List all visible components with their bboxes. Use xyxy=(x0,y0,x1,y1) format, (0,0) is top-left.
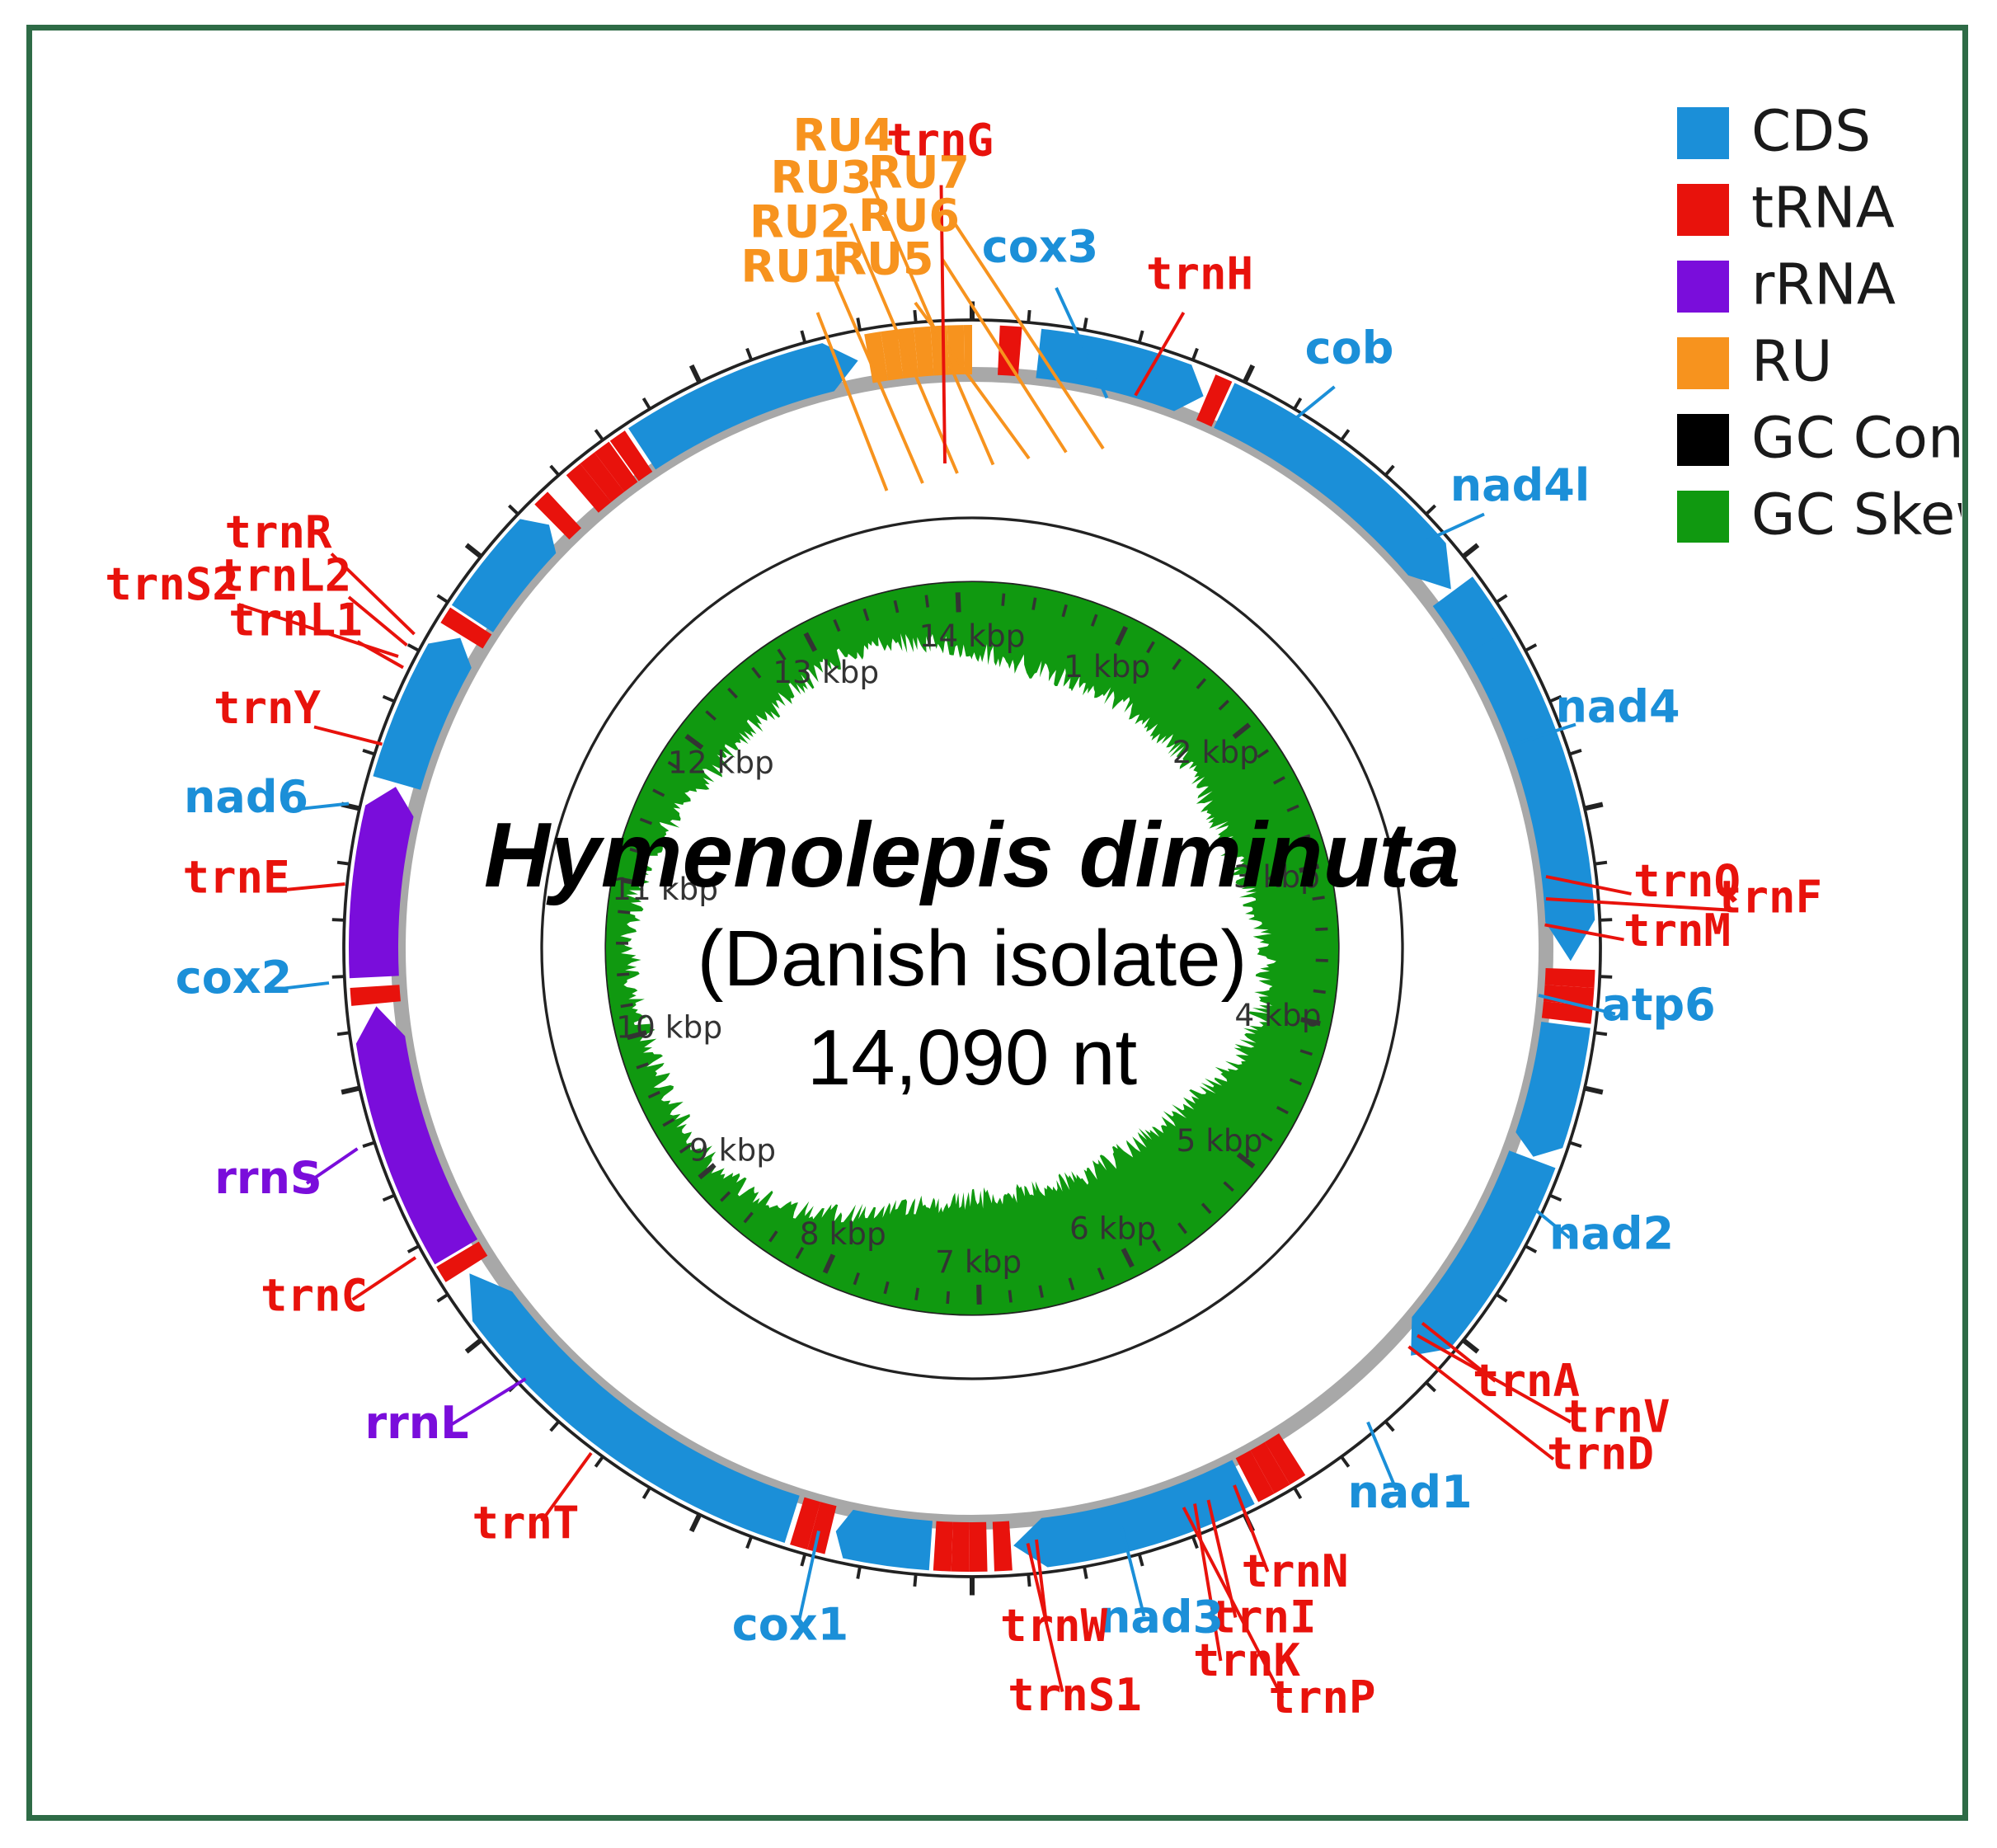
gene-feature-nad2[interactable] xyxy=(1411,1150,1555,1356)
axis-tick xyxy=(1585,804,1603,808)
gene-feature-trnQ[interactable] xyxy=(1545,968,1595,988)
figure-frame: 1 kbp2 kbp3 kbp4 kbp5 kbp6 kbp7 kbp8 kbp… xyxy=(26,25,1968,1821)
kbp-tick xyxy=(617,974,629,975)
feature-label-RU1[interactable]: RU1 xyxy=(740,241,842,293)
kbp-label: 7 kbp xyxy=(935,1244,1022,1280)
legend-swatch-gc-skew- xyxy=(1677,491,1729,543)
kbp-label: 1 kbp xyxy=(1064,648,1150,684)
feature-label-trnW[interactable]: trnW xyxy=(1000,1600,1108,1652)
feature-label-nad4[interactable]: nad4 xyxy=(1555,681,1680,733)
gene-feature-trnI[interactable] xyxy=(952,1522,970,1572)
center-genome-length: 14,090 nt xyxy=(807,1013,1137,1102)
feature-label-trnY[interactable]: trnY xyxy=(214,682,322,734)
leader-line-trnE xyxy=(281,884,345,891)
axis-tick xyxy=(467,1340,482,1352)
feature-label-nad6[interactable]: nad6 xyxy=(184,771,308,823)
feature-label-trnG[interactable]: trnG xyxy=(886,115,994,167)
axis-tick xyxy=(858,317,860,330)
axis-tick xyxy=(383,697,395,702)
axis-tick xyxy=(1426,505,1435,514)
gene-feature-trnC[interactable] xyxy=(350,985,401,1006)
legend: CDStRNArRNARUGC ContentGC Skew+ xyxy=(1677,99,1962,548)
feature-label-nad4l[interactable]: nad4l xyxy=(1450,459,1591,511)
axis-tick xyxy=(1585,1089,1603,1093)
feature-label-trnR[interactable]: trnR xyxy=(224,506,332,558)
axis-tick xyxy=(1595,863,1607,864)
axis-tick xyxy=(1084,1567,1087,1579)
axis-tick xyxy=(551,466,559,475)
axis-tick xyxy=(509,505,518,514)
gene-feature-nad4[interactable] xyxy=(1465,630,1595,962)
kbp-label: 2 kbp xyxy=(1172,734,1259,770)
gene-feature-RU7[interactable] xyxy=(964,325,972,374)
kbp-tick xyxy=(1313,990,1326,992)
axis-tick xyxy=(337,1032,350,1034)
feature-label-trnL1[interactable]: trnL1 xyxy=(228,595,363,647)
legend-label-gc-content: GC Content xyxy=(1751,406,1962,472)
center-isolate: (Danish isolate) xyxy=(698,915,1248,1003)
axis-tick xyxy=(747,1536,751,1548)
kbp-tick xyxy=(618,911,630,913)
kbp-tick xyxy=(621,1004,633,1006)
kbp-tick xyxy=(1009,1291,1011,1303)
feature-label-rrnL[interactable]: rrnL xyxy=(364,1397,468,1449)
kbp-tick xyxy=(947,1291,948,1304)
axis-tick xyxy=(332,919,345,920)
legend-label-trna: tRNA xyxy=(1751,176,1895,242)
legend-label-cds: CDS xyxy=(1751,99,1871,165)
axis-tick xyxy=(408,1246,419,1252)
axis-tick xyxy=(1600,976,1612,977)
kbp-label: 14 kbp xyxy=(919,618,1026,654)
axis-tick xyxy=(1570,750,1581,755)
gene-feature-cob[interactable] xyxy=(1214,383,1451,589)
feature-label-trnE[interactable]: trnE xyxy=(182,852,289,904)
gene-feature-rrnL[interactable] xyxy=(356,1006,477,1264)
feature-label-trnD[interactable]: trnD xyxy=(1547,1428,1654,1480)
axis-tick xyxy=(1570,1142,1581,1146)
axis-tick xyxy=(858,1567,860,1579)
feature-label-trnM[interactable]: trnM xyxy=(1623,905,1731,957)
gene-feature-trnK[interactable] xyxy=(933,1521,953,1572)
axis-tick xyxy=(1028,1574,1029,1587)
legend-label-gc-skew-: GC Skew+ xyxy=(1751,482,1962,548)
axis-tick xyxy=(1295,1488,1301,1498)
axis-tick xyxy=(1464,545,1478,557)
axis-tick xyxy=(1193,349,1197,360)
axis-tick xyxy=(801,331,805,342)
kbp-label: 6 kbp xyxy=(1069,1211,1156,1247)
kbp-label: 13 kbp xyxy=(773,654,879,690)
feature-label-atp6[interactable]: atp6 xyxy=(1601,979,1715,1031)
axis-tick xyxy=(692,365,700,382)
leader-line-trnY xyxy=(314,727,383,745)
axis-tick xyxy=(643,1488,650,1498)
axis-tick xyxy=(408,645,419,651)
axis-tick xyxy=(747,349,751,360)
axis-tick xyxy=(1497,1295,1507,1301)
feature-label-trnP[interactable]: trnP xyxy=(1268,1672,1375,1723)
circular-genome-map: 1 kbp2 kbp3 kbp4 kbp5 kbp6 kbp7 kbp8 kbp… xyxy=(32,31,1962,1817)
feature-label-cox2[interactable]: cox2 xyxy=(176,952,293,1004)
feature-label-cob[interactable]: cob xyxy=(1305,322,1394,374)
feature-label-trnN[interactable]: trnN xyxy=(1241,1545,1348,1597)
axis-tick xyxy=(914,310,915,322)
axis-tick xyxy=(1497,595,1507,602)
axis-tick xyxy=(363,750,374,755)
axis-tick xyxy=(337,863,350,864)
kbp-tick xyxy=(958,592,959,612)
axis-tick xyxy=(595,1456,603,1466)
feature-label-nad2[interactable]: nad2 xyxy=(1549,1208,1674,1260)
legend-swatch-cds xyxy=(1677,107,1729,159)
axis-tick xyxy=(1595,1032,1607,1034)
kbp-label: 9 kbp xyxy=(689,1132,776,1169)
feature-label-nad1[interactable]: nad1 xyxy=(1347,1466,1472,1518)
axis-tick xyxy=(1342,1456,1349,1466)
axis-tick xyxy=(1028,310,1029,322)
axis-tick xyxy=(467,545,482,557)
kbp-label: 12 kbp xyxy=(668,744,774,780)
feature-label-trnF[interactable]: trnF xyxy=(1715,872,1822,924)
feature-label-trnC[interactable]: trnC xyxy=(261,1270,368,1322)
kbp-label: 4 kbp xyxy=(1234,997,1321,1033)
leader-line-nad4l xyxy=(1427,515,1484,541)
axis-tick xyxy=(1139,1554,1143,1566)
gene-feature-trnP[interactable] xyxy=(970,1522,988,1572)
axis-tick xyxy=(551,1422,559,1431)
feature-label-cox3[interactable]: cox3 xyxy=(982,221,1099,273)
kbp-tick xyxy=(1003,594,1003,606)
axis-tick xyxy=(1139,331,1143,342)
axis-tick xyxy=(692,1515,700,1531)
kbp-tick xyxy=(916,1288,918,1300)
axis-tick xyxy=(363,1142,374,1146)
axis-tick xyxy=(801,1554,805,1566)
axis-tick xyxy=(1385,1422,1393,1431)
axis-tick xyxy=(1600,919,1612,920)
axis-tick xyxy=(1385,466,1393,475)
kbp-label: 8 kbp xyxy=(800,1216,886,1252)
axis-tick xyxy=(383,1195,395,1200)
legend-swatch-gc-content xyxy=(1677,414,1729,466)
axis-tick xyxy=(332,976,345,977)
legend-swatch-trna xyxy=(1677,184,1729,236)
feature-label-nad3[interactable]: nad3 xyxy=(1099,1592,1224,1643)
feature-label-trnT[interactable]: trnT xyxy=(472,1498,579,1549)
axis-tick xyxy=(1084,317,1087,330)
axis-tick xyxy=(1245,365,1253,382)
kbp-label: 10 kbp xyxy=(616,1009,722,1045)
kbp-tick xyxy=(1315,929,1327,929)
axis-tick xyxy=(1193,1536,1197,1548)
legend-label-ru: RU xyxy=(1751,329,1832,395)
axis-tick xyxy=(1426,1383,1435,1391)
axis-tick xyxy=(914,1574,915,1587)
center-species-name: Hymenolepis diminuta xyxy=(484,804,1460,906)
axis-tick xyxy=(438,595,449,602)
legend-swatch-rrna xyxy=(1677,261,1729,313)
axis-tick xyxy=(1550,1195,1562,1200)
feature-label-trnH[interactable]: trnH xyxy=(1146,248,1253,300)
feature-label-rrnS[interactable]: rrnS xyxy=(214,1152,322,1204)
axis-tick xyxy=(341,1089,359,1093)
kbp-label: 5 kbp xyxy=(1176,1122,1262,1159)
axis-tick xyxy=(1525,1246,1536,1252)
kbp-tick xyxy=(1316,960,1328,961)
kbp-tick xyxy=(926,595,928,608)
axis-tick xyxy=(1525,645,1536,651)
axis-tick xyxy=(1295,398,1301,409)
gene-feature-trnN[interactable] xyxy=(993,1521,1013,1572)
feature-label-trnS1[interactable]: trnS1 xyxy=(1008,1669,1142,1721)
axis-tick xyxy=(438,1295,449,1301)
axis-tick xyxy=(1464,1340,1478,1352)
axis-tick xyxy=(643,398,650,409)
axis-tick xyxy=(1342,430,1349,440)
legend-swatch-ru xyxy=(1677,337,1729,389)
legend-label-rrna: rRNA xyxy=(1751,252,1896,318)
axis-tick xyxy=(595,430,603,440)
feature-label-cox1[interactable]: cox1 xyxy=(732,1599,849,1651)
